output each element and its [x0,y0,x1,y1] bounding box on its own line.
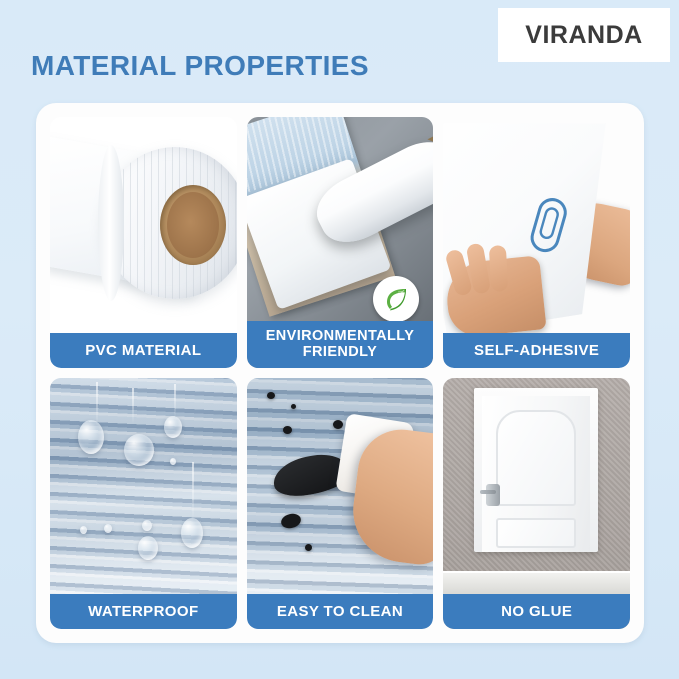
door-frame-shape [474,388,598,552]
door-shape [482,396,590,552]
eco-badge [373,276,419,322]
water-droplet [142,520,152,531]
leaf-icon [382,285,410,313]
feature-label-environmentally-friendly: ENVIRONMENTALLY FRIENDLY [247,321,434,368]
water-droplet [170,458,176,465]
water-droplet [104,524,112,533]
brand-logo-box: VIRANDA [498,8,670,62]
no-glue-image [443,378,630,629]
water-droplet [164,416,182,438]
feature-card-waterproof[interactable]: WATERPROOF [50,378,237,629]
feature-card-pvc-material[interactable]: PVC MATERIAL [50,117,237,368]
left-hand-shape [444,255,547,339]
stain-spot [267,392,275,399]
curl-tip-shape [427,133,433,154]
water-streak [192,462,194,522]
roll-edge-shape [98,145,124,301]
water-streak [96,382,98,426]
feature-label-pvc-material: PVC MATERIAL [50,333,237,368]
stain-spot [283,426,292,434]
water-streak [174,384,176,418]
stain-spot [305,544,312,551]
water-droplet [78,420,104,454]
feature-card-no-glue[interactable]: NO GLUE [443,378,630,629]
feature-label-waterproof: WATERPROOF [50,594,237,629]
door-panel-lower [496,518,576,548]
stain-spot [333,420,343,429]
water-droplet [138,536,158,560]
feature-label-self-adhesive: SELF-ADHESIVE [443,333,630,368]
waterproof-image [50,378,237,629]
water-droplet [80,526,87,534]
brand-name: VIRANDA [525,21,642,50]
water-droplet [124,434,154,466]
stain-spot [279,512,302,530]
features-panel: PVC MATERIAL [36,103,644,643]
feature-label-easy-to-clean: EASY TO CLEAN [247,594,434,629]
door-panel-upper [496,410,576,506]
easy-to-clean-image [247,378,434,629]
feature-card-self-adhesive[interactable]: SELF-ADHESIVE [443,117,630,368]
finger-shape [489,245,508,292]
feature-card-easy-to-clean[interactable]: EASY TO CLEAN [247,378,434,629]
feature-card-environmentally-friendly[interactable]: ENVIRONMENTALLY FRIENDLY [247,117,434,368]
feature-label-no-glue: NO GLUE [443,594,630,629]
water-streak [132,388,134,424]
pvc-roll-image [50,117,237,368]
baseboard-shape [443,571,630,595]
roll-core-shape [160,185,226,265]
stain-spot [291,404,296,409]
door-handle-icon [486,484,500,506]
feature-label-line2: FRIENDLY [303,344,377,360]
water-droplet [181,518,203,548]
self-adhesive-image [443,117,630,368]
features-grid: PVC MATERIAL [50,117,630,629]
feature-label-line1: ENVIRONMENTALLY [266,328,415,344]
page-title: MATERIAL PROPERTIES [31,50,369,82]
